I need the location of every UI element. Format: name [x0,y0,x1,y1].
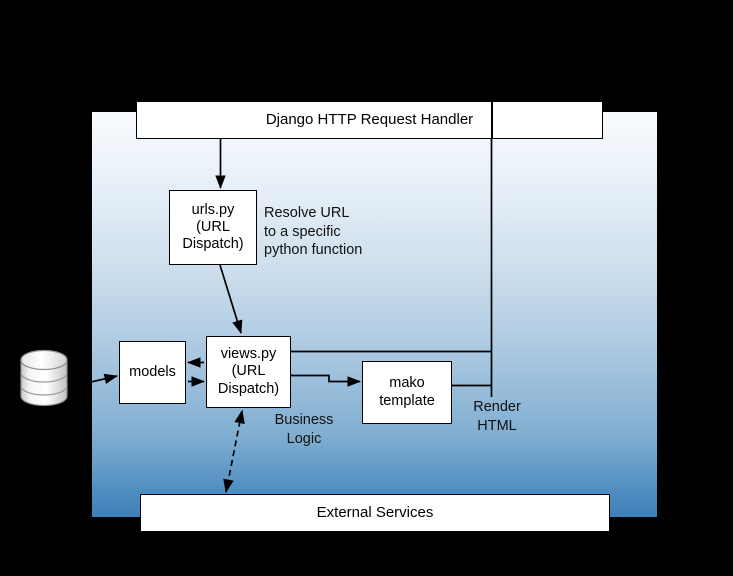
django-stack-panel [92,112,657,517]
node-label: models [129,364,176,381]
node-label: urls.py (URL Dispatch) [182,202,243,253]
node-django-http-request-handler[interactable]: Django HTTP Request Handler [136,101,603,139]
node-label: External Services [317,504,434,522]
node-urls-py[interactable]: urls.py (URL Dispatch) [169,190,257,265]
annotation-resolve-url: Resolve URL to a specific python functio… [264,204,388,260]
node-label: views.py (URL Dispatch) [218,346,279,397]
node-models[interactable]: models [119,341,186,404]
node-mako-template[interactable]: mako template [362,361,452,424]
diagram-canvas: Django HTTP Request Handler urls.py (URL… [0,0,733,576]
node-label: Django HTTP Request Handler [266,111,473,129]
node-label: mako template [379,375,435,409]
header-box-divider [491,101,493,139]
node-external-services[interactable]: External Services [140,494,610,532]
node-views-py[interactable]: views.py (URL Dispatch) [206,336,291,408]
annotation-business-logic: Business Logic [258,411,350,448]
annotation-render-html: Render HTML [459,398,535,435]
database-cylinder-icon [18,347,70,409]
